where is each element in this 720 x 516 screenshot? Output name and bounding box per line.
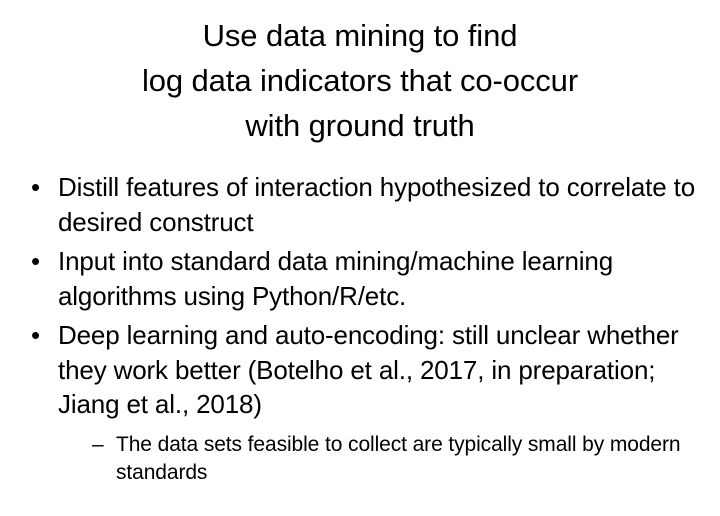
bullet-marker-icon: • [31, 244, 40, 279]
bullet-text: Distill features of interaction hypothes… [58, 170, 700, 239]
sub-bullet-list: – The data sets feasible to collect are … [92, 431, 700, 487]
bullet-text: Deep learning and auto-encoding: still u… [58, 318, 700, 422]
bullet-item: • Distill features of interaction hypoth… [28, 170, 700, 239]
bullet-marker-icon: • [31, 170, 40, 205]
slide-canvas: Use data mining to find log data indicat… [0, 0, 720, 516]
bullet-item: • Deep learning and auto-encoding: still… [28, 318, 700, 487]
sub-bullet-item: – The data sets feasible to collect are … [92, 431, 700, 487]
bullet-item: • Input into standard data mining/machin… [28, 244, 700, 313]
bullet-marker-icon: • [31, 318, 40, 353]
sub-bullet-text: The data sets feasible to collect are ty… [116, 431, 700, 487]
sub-bullet-marker-icon: – [92, 431, 104, 459]
title-line-1: Use data mining to find [24, 13, 696, 58]
bullet-text: Input into standard data mining/machine … [58, 244, 700, 313]
slide-body: • Distill features of interaction hypoth… [28, 170, 700, 487]
title-line-3: with ground truth [24, 103, 696, 148]
title-line-2: log data indicators that co-occur [24, 58, 696, 103]
slide-title: Use data mining to find log data indicat… [24, 13, 696, 148]
